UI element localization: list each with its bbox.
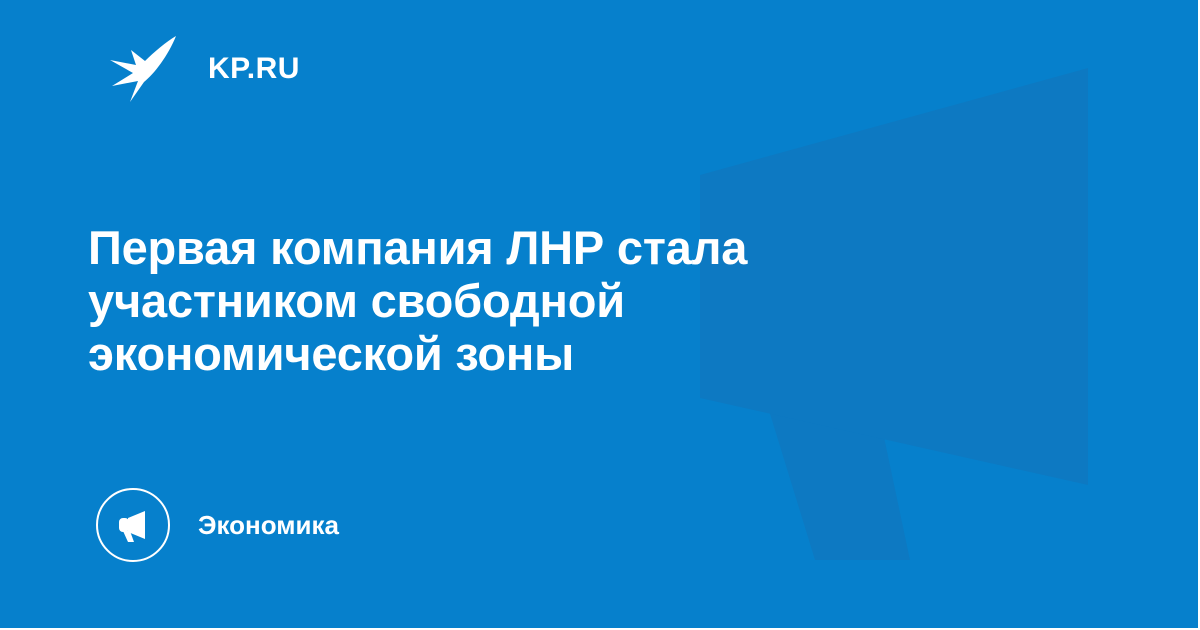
category-icon-circle [96, 488, 170, 562]
headline: Первая компания ЛНР стала участником сво… [88, 221, 968, 380]
brand-name: KP.RU [208, 54, 300, 84]
category-label: Экономика [198, 512, 339, 538]
brand-logo[interactable]: KP.RU [108, 34, 300, 104]
category-badge[interactable]: Экономика [96, 488, 339, 562]
swallow-bird-icon [108, 34, 180, 104]
headline-line-3: экономической зоны [88, 327, 968, 380]
headline-line-2: участником свободной [88, 274, 968, 327]
headline-line-1: Первая компания ЛНР стала [88, 221, 968, 274]
megaphone-icon [114, 506, 152, 544]
share-card: KP.RU Первая компания ЛНР стала участник… [0, 0, 1200, 630]
